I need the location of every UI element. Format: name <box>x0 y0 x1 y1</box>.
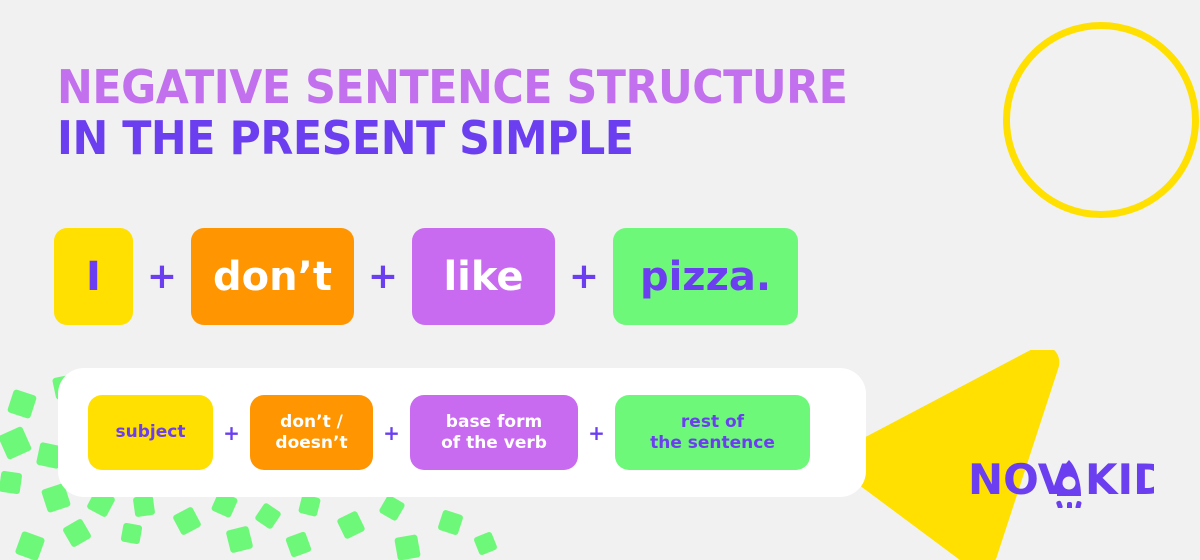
formula-box-label: don’t / doesn’t <box>275 412 347 454</box>
confetti-square <box>394 534 421 560</box>
confetti-square <box>298 494 321 517</box>
plus-sign: + <box>213 421 250 445</box>
example-sentence-row: I+don’t+like+pizza. <box>54 228 798 325</box>
example-box-label: like <box>443 257 523 297</box>
plus-sign: + <box>133 257 191 297</box>
formula-box-verb: base form of the verb <box>410 395 578 470</box>
logo-text-before: NOV <box>968 455 1071 504</box>
logo-text-after: KID <box>1085 455 1154 504</box>
example-box-label: don’t <box>213 257 332 297</box>
confetti-square <box>437 509 463 535</box>
confetti-square <box>62 518 92 548</box>
page-title: NEGATIVE SENTENCE STRUCTURE IN THE PRESE… <box>57 62 957 164</box>
confetti-square <box>336 510 365 539</box>
example-box-label: I <box>86 257 101 297</box>
formula-box-auxiliary: don’t / doesn’t <box>250 395 373 470</box>
formula-box-subject: subject <box>88 395 213 470</box>
confetti-square <box>15 531 46 560</box>
formula-box-label: subject <box>116 422 186 443</box>
plus-sign: + <box>354 257 412 297</box>
infographic-canvas: NEGATIVE SENTENCE STRUCTURE IN THE PRESE… <box>0 0 1200 560</box>
example-box-verb: like <box>412 228 555 325</box>
title-line-2: IN THE PRESENT SIMPLE <box>57 113 894 164</box>
example-box-label: pizza. <box>640 257 771 297</box>
novakid-logo[interactable]: NOV KID <box>968 452 1154 508</box>
confetti-square <box>378 494 405 521</box>
confetti-square <box>172 506 202 536</box>
confetti-square <box>133 495 156 518</box>
confetti-square <box>254 502 282 530</box>
confetti-square <box>7 389 37 419</box>
title-line-1: NEGATIVE SENTENCE STRUCTURE <box>57 62 894 113</box>
confetti-square <box>0 426 32 460</box>
confetti-square <box>0 471 22 495</box>
plus-sign: + <box>373 421 410 445</box>
plus-sign: + <box>578 421 615 445</box>
example-box-subject: I <box>54 228 133 325</box>
formula-box-label: rest of the sentence <box>650 412 775 454</box>
confetti-square <box>226 526 254 554</box>
confetti-square <box>473 531 498 556</box>
yellow-ring-decoration <box>1003 22 1199 218</box>
formula-box-rest: rest of the sentence <box>615 395 810 470</box>
plus-sign: + <box>555 257 613 297</box>
formula-box-label: base form of the verb <box>441 412 547 454</box>
confetti-square <box>120 522 142 544</box>
example-box-auxiliary: don’t <box>191 228 354 325</box>
example-box-object: pizza. <box>613 228 798 325</box>
formula-row: subject+don’t / doesn’t+base form of the… <box>88 395 810 470</box>
confetti-square <box>285 531 312 558</box>
